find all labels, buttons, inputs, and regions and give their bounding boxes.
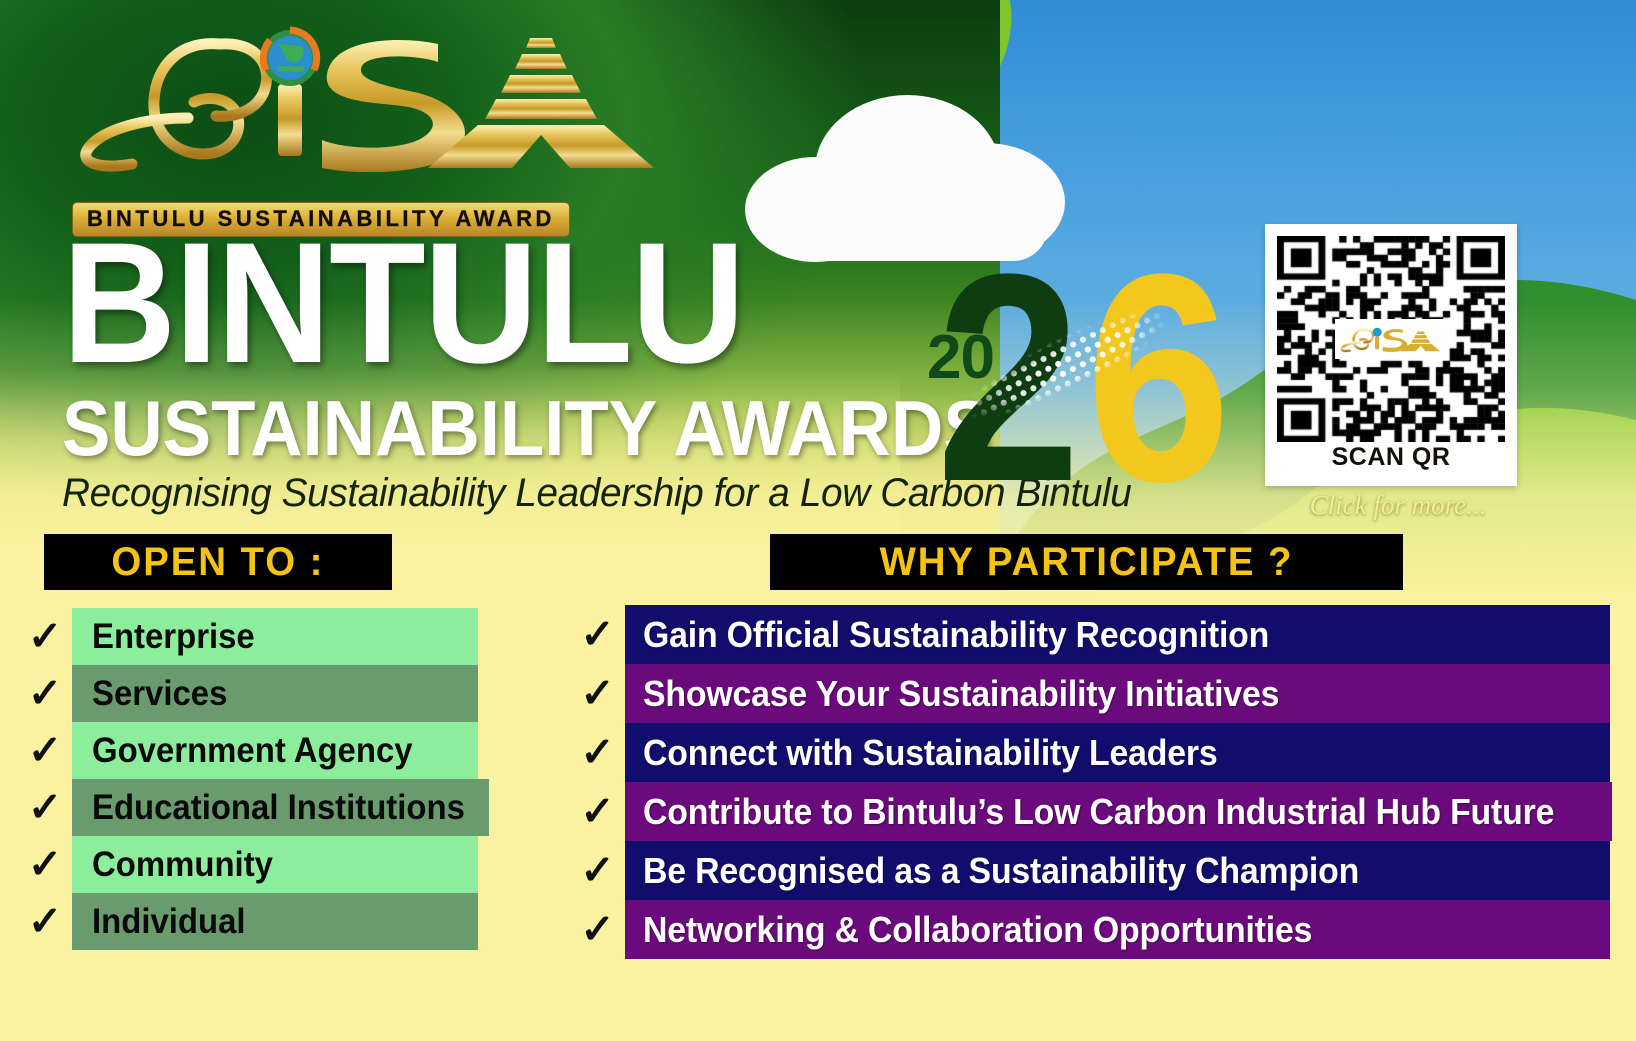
open-to-item-label: Enterprise — [92, 617, 255, 657]
bisa-logo-mark — [70, 22, 670, 172]
section-header-why-participate: WHY PARTICIPATE ? — [770, 534, 1403, 590]
check-icon: ✓ — [570, 723, 625, 782]
why-item-label: Showcase Your Sustainability Initiatives — [643, 673, 1279, 715]
list-item: ✓Educational Institutions — [18, 779, 478, 836]
check-icon: ✓ — [570, 900, 625, 959]
bisa-logo[interactable]: BINTULU SUSTAINABILITY AWARD — [70, 22, 670, 212]
why-item-label: Contribute to Bintulu’s Low Carbon Indus… — [643, 791, 1554, 833]
why-item-bar: Showcase Your Sustainability Initiatives — [625, 664, 1610, 723]
pyramid-icon — [428, 38, 654, 168]
check-icon: ✓ — [570, 605, 625, 664]
why-item-label: Connect with Sustainability Leaders — [643, 732, 1217, 774]
section-header-open-to: OPEN TO : — [44, 534, 392, 590]
qr-label: SCAN QR — [1277, 443, 1505, 472]
qr-embedded-logo — [1335, 319, 1447, 359]
list-item: ✓Government Agency — [18, 722, 478, 779]
globe-icon — [262, 30, 318, 86]
open-to-item-label: Individual — [92, 902, 246, 942]
open-to-item-bar: Government Agency — [72, 722, 478, 779]
open-to-item-bar: Services — [72, 665, 478, 722]
list-item: ✓Networking & Collaboration Opportunitie… — [570, 900, 1610, 959]
why-participate-list: ✓Gain Official Sustainability Recognitio… — [570, 605, 1610, 959]
why-item-bar: Networking & Collaboration Opportunities — [625, 900, 1610, 959]
check-icon: ✓ — [18, 779, 72, 836]
list-item: ✓Connect with Sustainability Leaders — [570, 723, 1610, 782]
qr-card[interactable]: SCAN QR — [1265, 224, 1517, 486]
why-item-label: Be Recognised as a Sustainability Champi… — [643, 850, 1359, 892]
why-item-bar: Connect with Sustainability Leaders — [625, 723, 1610, 782]
check-icon: ✓ — [570, 664, 625, 723]
qr-code-image[interactable] — [1277, 236, 1505, 442]
check-icon: ✓ — [18, 722, 72, 779]
list-item: ✓Contribute to Bintulu’s Low Carbon Indu… — [570, 782, 1610, 841]
check-icon: ✓ — [18, 608, 72, 665]
open-to-list: ✓Enterprise✓Services✓Government Agency✓E… — [18, 608, 478, 950]
section-header-why-participate-label: WHY PARTICIPATE ? — [880, 540, 1294, 585]
poster-canvas: BINTULU SUSTAINABILITY AWARD BINTULU SUS… — [0, 0, 1636, 1041]
open-to-item-label: Services — [92, 674, 227, 714]
open-to-item-bar: Enterprise — [72, 608, 478, 665]
list-item: ✓Individual — [18, 893, 478, 950]
open-to-item-bar: Community — [72, 836, 478, 893]
qr-click-for-more[interactable]: Click for more... — [1288, 490, 1508, 521]
list-item: ✓Community — [18, 836, 478, 893]
why-item-bar: Contribute to Bintulu’s Low Carbon Indus… — [625, 782, 1612, 841]
check-icon: ✓ — [570, 841, 625, 900]
year-digit-6: 6 — [1086, 230, 1222, 526]
why-item-bar: Gain Official Sustainability Recognition — [625, 605, 1610, 664]
open-to-item-label: Government Agency — [92, 731, 413, 771]
check-icon: ✓ — [18, 665, 72, 722]
section-header-open-to-label: OPEN TO : — [112, 540, 325, 585]
open-to-item-label: Community — [92, 845, 273, 885]
open-to-item-bar: Educational Institutions — [72, 779, 489, 836]
why-item-label: Networking & Collaboration Opportunities — [643, 909, 1312, 951]
bisa-logo-icon — [1339, 322, 1443, 356]
check-icon: ✓ — [18, 893, 72, 950]
list-item: ✓Showcase Your Sustainability Initiative… — [570, 664, 1610, 723]
why-item-bar: Be Recognised as a Sustainability Champi… — [625, 841, 1610, 900]
open-to-item-bar: Individual — [72, 893, 478, 950]
list-item: ✓Be Recognised as a Sustainability Champ… — [570, 841, 1610, 900]
check-icon: ✓ — [570, 782, 625, 841]
why-item-label: Gain Official Sustainability Recognition — [643, 614, 1269, 656]
list-item: ✓Enterprise — [18, 608, 478, 665]
year-prefix-20: 20 — [927, 322, 994, 393]
check-icon: ✓ — [18, 836, 72, 893]
open-to-item-label: Educational Institutions — [92, 788, 465, 828]
list-item: ✓Gain Official Sustainability Recognitio… — [570, 605, 1610, 664]
year-2026-graphic: 2 6 20 — [918, 236, 1218, 501]
list-item: ✓Services — [18, 665, 478, 722]
